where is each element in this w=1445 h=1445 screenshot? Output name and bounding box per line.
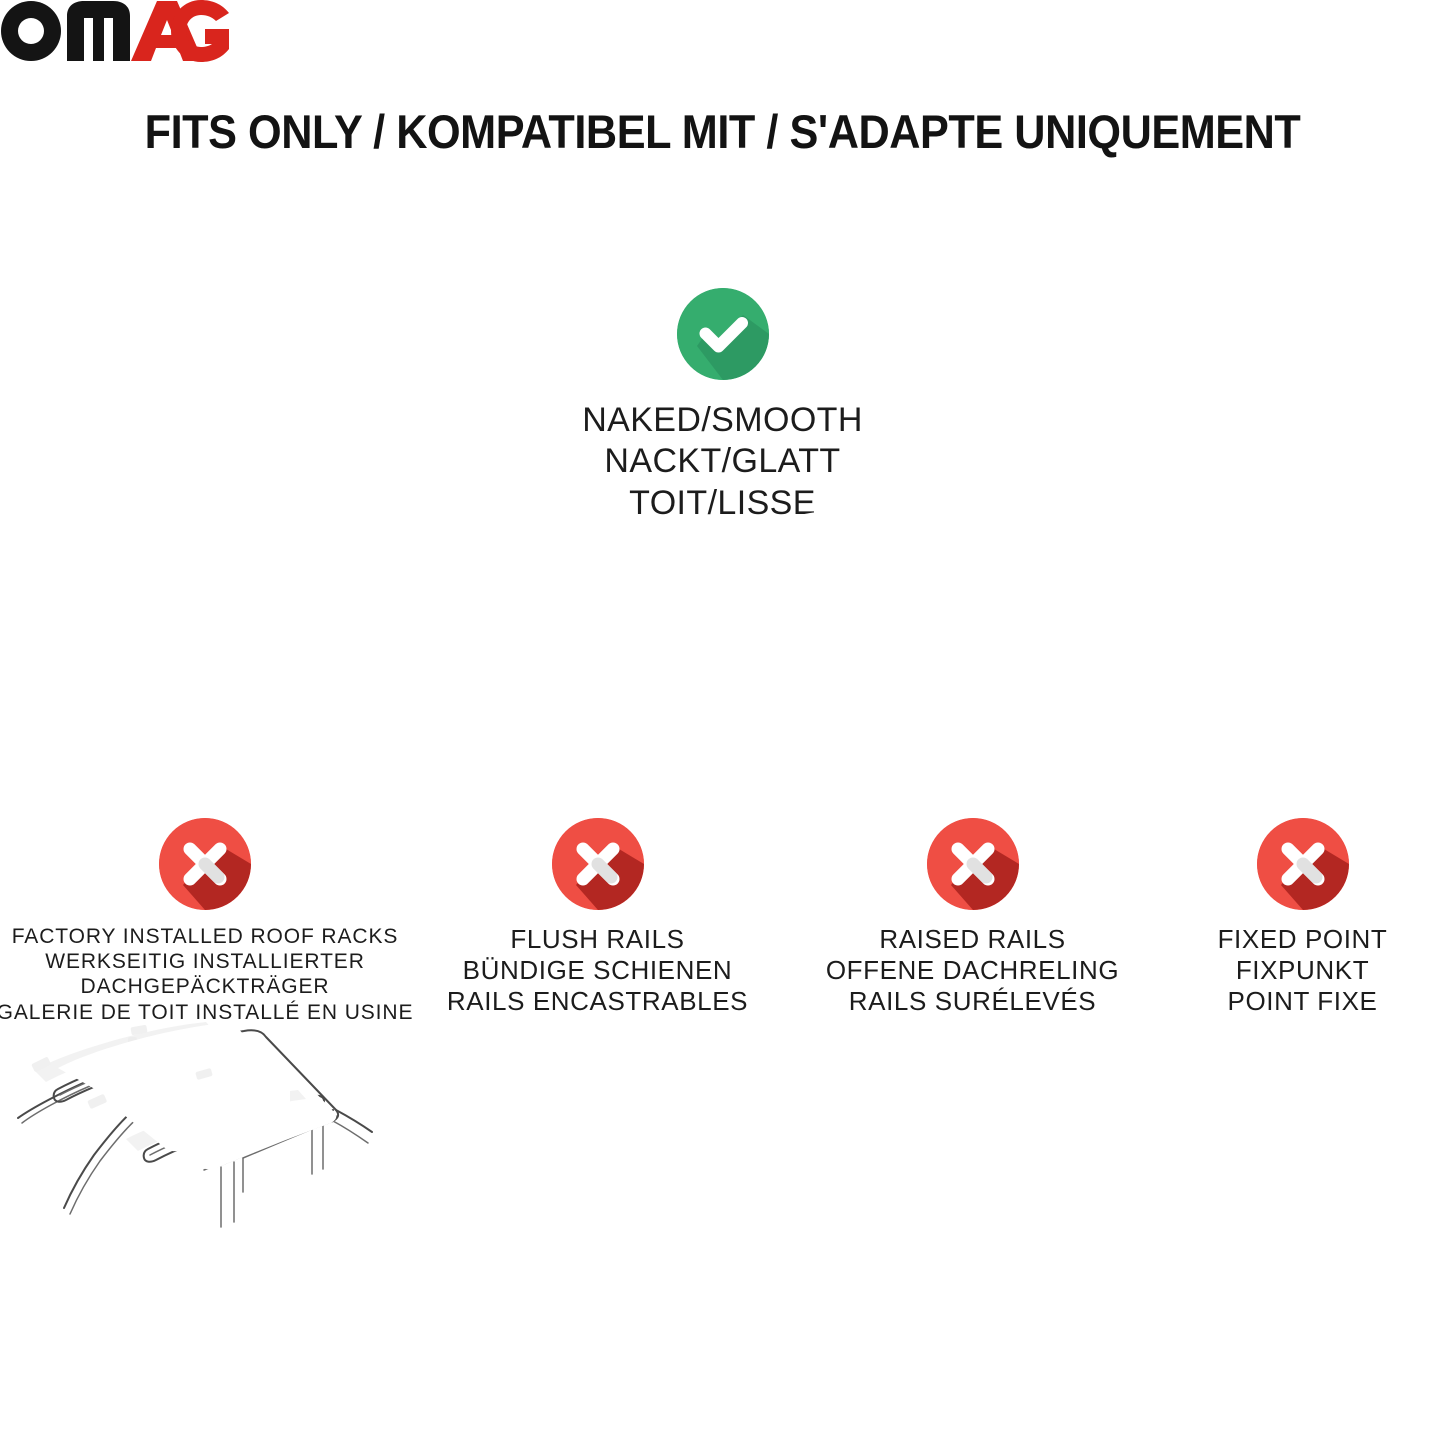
incompatible-label-fr: RAILS SURÉLEVÉS — [826, 986, 1119, 1017]
incompatible-label-de: FIXPUNKT — [1218, 955, 1388, 986]
incompatible-labels: FIXED POINT FIXPUNKT POINT FIXE — [1218, 924, 1388, 1018]
incompatible-label-en: FIXED POINT — [1218, 924, 1388, 955]
compatible-label-en: NAKED/SMOOTH — [582, 400, 863, 441]
x-circle-icon — [927, 818, 1019, 910]
omac-logo — [0, 0, 1445, 67]
incompatible-item-flush-rails: FLUSH RAILS BÜNDIGE SCHIENEN RAILS ENCAS… — [410, 818, 785, 1018]
incompatible-item-fixed-point: FIXED POINT FIXPUNKT POINT FIXE — [1160, 818, 1445, 1018]
incompatible-label-fr: RAILS ENCASTRABLES — [447, 986, 748, 1017]
incompatible-labels: FACTORY INSTALLED ROOF RACKS WERKSEITIG … — [0, 924, 413, 1025]
x-circle-icon — [159, 818, 251, 910]
compatible-label-de: NACKT/GLATT — [582, 441, 863, 482]
page-title: FITS ONLY / KOMPATIBEL MIT / S'ADAPTE UN… — [58, 104, 1387, 159]
incompatible-item-raised-rails: RAISED RAILS OFFENE DACHRELING RAILS SUR… — [785, 818, 1160, 1018]
incompatible-label-fr: GALERIE DE TOIT INSTALLÉ EN USINE — [0, 1000, 413, 1025]
incompatible-labels: FLUSH RAILS BÜNDIGE SCHIENEN RAILS ENCAS… — [447, 924, 748, 1018]
car-roof-fixed-point-illustration — [0, 1022, 290, 1257]
incompatible-label-de: BÜNDIGE SCHIENEN — [447, 955, 748, 986]
incompatible-label-de-1: WERKSEITIG INSTALLIERTER — [0, 949, 413, 974]
x-circle-icon — [1257, 818, 1349, 910]
x-circle-icon — [552, 818, 644, 910]
incompatible-label-en: FACTORY INSTALLED ROOF RACKS — [0, 924, 413, 949]
incompatible-label-de: OFFENE DACHRELING — [826, 955, 1119, 986]
compatible-section: NAKED/SMOOTH NACKT/GLATT TOIT/LISSE — [0, 288, 1445, 524]
incompatible-label-en: RAISED RAILS — [826, 924, 1119, 955]
incompatible-labels: RAISED RAILS OFFENE DACHRELING RAILS SUR… — [826, 924, 1119, 1018]
incompatible-label-de-2: DACHGEPÄCKTRÄGER — [0, 974, 413, 999]
check-circle-icon — [677, 288, 769, 380]
incompatible-item-factory-roof-racks: FACTORY INSTALLED ROOF RACKS WERKSEITIG … — [0, 818, 410, 1025]
car-roof-naked-smooth-illustration — [455, 498, 1015, 748]
incompatible-label-en: FLUSH RAILS — [447, 924, 748, 955]
incompatible-section: FACTORY INSTALLED ROOF RACKS WERKSEITIG … — [0, 818, 1445, 1025]
incompatible-label-fr: POINT FIXE — [1218, 986, 1388, 1017]
